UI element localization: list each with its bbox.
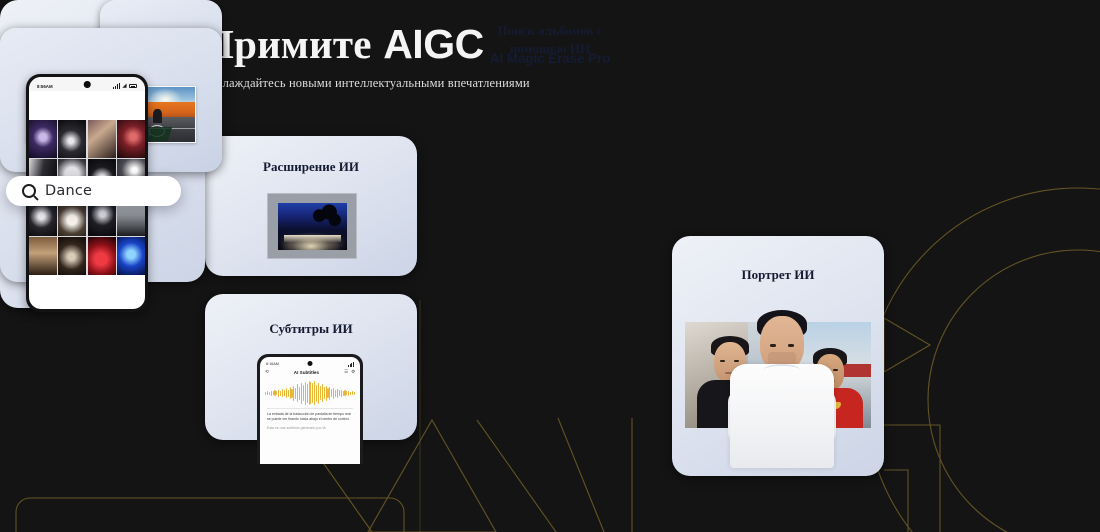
photo-thumb[interactable] bbox=[88, 237, 116, 275]
photo-thumb[interactable] bbox=[117, 120, 145, 158]
promo-banner: Примите AIGC Наслаждайтесь новыми интелл… bbox=[0, 0, 1100, 532]
card-ai-expand-title: Расширение ИИ bbox=[205, 158, 417, 176]
subtitles-caption-primary: La entrada de la traducción de pantalla … bbox=[267, 412, 353, 423]
photo-thumb[interactable] bbox=[29, 237, 57, 275]
search-input[interactable]: Dance bbox=[6, 176, 181, 206]
album-search-status-time: 8:56AM bbox=[37, 84, 53, 89]
tree-silhouette-decor bbox=[310, 204, 342, 233]
subtitles-app-bar: ⟲ AI Subtitles ☰ ⚙ bbox=[260, 368, 360, 377]
battery-icon bbox=[129, 84, 137, 88]
back-arrow-icon[interactable]: ⟲ bbox=[265, 369, 269, 375]
album-search-phone-mockup: 8:56AM ◢ bbox=[26, 74, 148, 312]
ai-expand-photo bbox=[278, 203, 347, 250]
left-person-eye bbox=[720, 360, 725, 362]
list-icon[interactable]: ☰ bbox=[344, 369, 348, 375]
search-input-value: Dance bbox=[45, 183, 92, 199]
search-icon bbox=[22, 184, 36, 198]
audio-waveform bbox=[264, 380, 356, 406]
card-ai-subtitles-title: Субтитры ИИ bbox=[205, 320, 417, 338]
card-ai-portrait-title: Портрет ИИ bbox=[672, 266, 884, 284]
photo-thumb[interactable] bbox=[29, 120, 57, 158]
house-lights-decor bbox=[284, 235, 342, 243]
cyclist-figure bbox=[153, 109, 162, 123]
album-search-status-bar: 8:56AM ◢ bbox=[29, 77, 145, 91]
wifi-icon: ◢ bbox=[123, 83, 127, 89]
center-person-white-shirt bbox=[730, 364, 834, 468]
front-camera-icon bbox=[84, 81, 91, 88]
page-subtitle: Наслаждайтесь новыми интеллектуальными в… bbox=[202, 76, 530, 91]
subtitles-app-title: AI Subtitles bbox=[294, 370, 319, 375]
photo-thumb[interactable] bbox=[117, 237, 145, 275]
signal-wifi-battery-icons bbox=[348, 362, 354, 367]
subtitles-caption-block: La entrada de la traducción de pantalla … bbox=[267, 408, 353, 431]
photo-thumb[interactable] bbox=[58, 237, 86, 275]
card-ai-subtitles[interactable]: Субтитры ИИ 8:16AM ⟲ AI Subtitles ☰ ⚙ bbox=[205, 294, 417, 440]
ai-expand-outer-frame bbox=[267, 193, 357, 259]
signal-icon bbox=[113, 83, 120, 89]
portrait-subject-cutout bbox=[730, 300, 834, 468]
center-person-collar bbox=[764, 364, 800, 376]
front-camera-icon bbox=[308, 361, 313, 366]
subtitles-phone-mockup: 8:16AM ⟲ AI Subtitles ☰ ⚙ bbox=[257, 354, 363, 464]
gear-icon[interactable]: ⚙ bbox=[351, 369, 355, 375]
center-person-eye bbox=[788, 344, 794, 347]
subtitles-status-bar: 8:16AM bbox=[260, 357, 360, 368]
subtitles-phone-screen: 8:16AM ⟲ AI Subtitles ☰ ⚙ bbox=[260, 357, 360, 464]
card-ai-portrait[interactable]: Портрет ИИ bbox=[672, 236, 884, 476]
card-ai-magic-erase-title: AI Magic Erase Pro bbox=[0, 50, 1100, 68]
photo-thumb[interactable] bbox=[88, 120, 116, 158]
subtitles-caption-secondary: Esta es una subtítulo generado por IA bbox=[267, 426, 353, 431]
photo-thumb[interactable] bbox=[58, 120, 86, 158]
subtitles-status-time: 8:16AM bbox=[266, 362, 279, 366]
card-ai-expand[interactable]: Расширение ИИ bbox=[205, 136, 417, 276]
center-person-eye bbox=[770, 344, 776, 347]
